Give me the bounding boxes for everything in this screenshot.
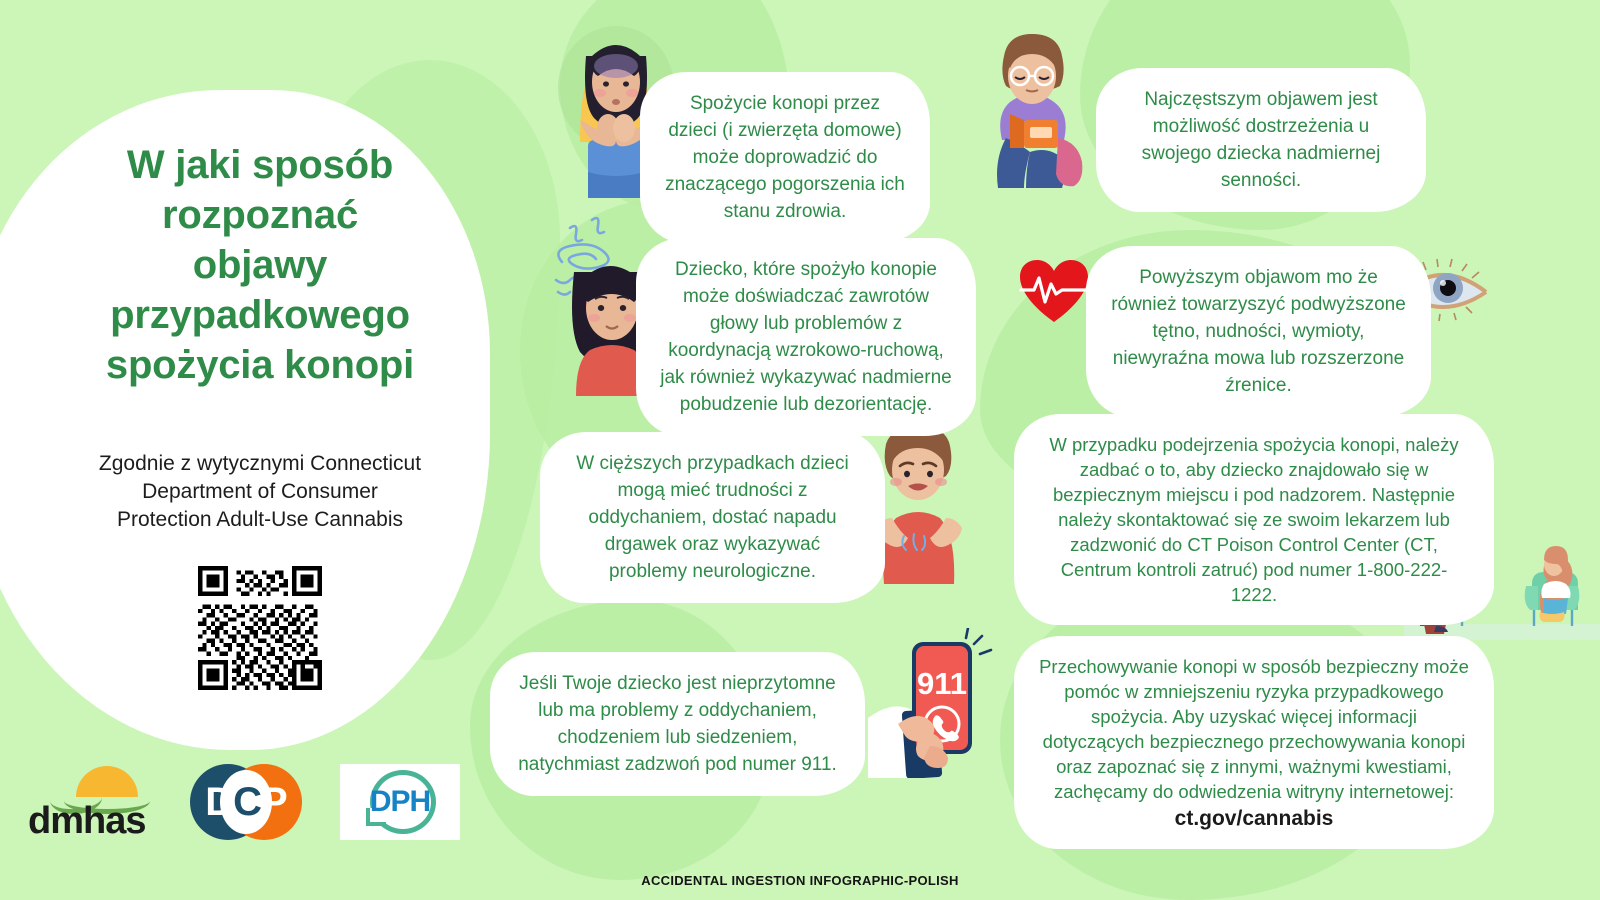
bubble-severe-cases: W cięższych przypadkach dzieci mogą mieć…	[540, 432, 885, 603]
heart-rate-icon	[1018, 258, 1090, 326]
dcp-letter-c: C	[233, 780, 261, 825]
bubble-poison-control: W przypadku podejrzenia spożycia konopi,…	[1014, 414, 1494, 625]
bubble-drowsiness: Najczęstszym objawem jest możliwość dost…	[1096, 68, 1426, 212]
bubble-safe-storage: Przechowywanie konopi w sposób bezpieczn…	[1014, 636, 1494, 849]
dph-wordmark: DPH	[370, 785, 430, 819]
bubble-heart-rate: Powyższym objawom mo że również towarzys…	[1086, 246, 1431, 417]
dcp-letter-d: D	[205, 780, 233, 825]
infographic-canvas: W jaki sposób rozpoznać objawy przypadko…	[0, 0, 1600, 900]
dcp-letter-p: P	[261, 780, 287, 825]
dmhas-wordmark: dmhas	[28, 800, 145, 843]
qr-code-wrapper	[30, 566, 490, 690]
dmhas-logo: dmhas	[28, 764, 152, 840]
bubble-dizziness: Dziecko, które spożyło konopie może dośw…	[636, 238, 976, 436]
agency-logos: dmhas D C P DPH	[28, 762, 460, 842]
safe-storage-text: Przechowywanie konopi w sposób bezpieczn…	[1039, 656, 1469, 802]
svg-text:911: 911	[917, 666, 967, 701]
bubble-consumption-risk: Spożycie konopi przez dzieci (i zwierzęt…	[640, 72, 930, 243]
hero-subtext: Zgodnie z wytycznymi Connecticut Departm…	[30, 450, 490, 534]
boy-sleepy-backpack-illustration	[966, 28, 1098, 188]
dcp-letters: D C P	[190, 762, 302, 842]
footer-caption: ACCIDENTAL INGESTION INFOGRAPHIC-POLISH	[0, 873, 1600, 888]
phone-911-illustration: 911	[868, 628, 996, 778]
dcp-logo: D C P	[190, 762, 302, 842]
bubble-call-911: Jeśli Twoje dziecko jest nieprzytomne lu…	[490, 652, 865, 796]
page-title: W jaki sposób rozpoznać objawy przypadko…	[30, 140, 490, 390]
dph-logo: DPH	[340, 764, 460, 840]
cannabis-website-link[interactable]: ct.gov/cannabis	[1038, 806, 1470, 831]
hero-content: W jaki sposób rozpoznać objawy przypadko…	[30, 140, 490, 690]
qr-code-icon[interactable]	[198, 566, 322, 690]
